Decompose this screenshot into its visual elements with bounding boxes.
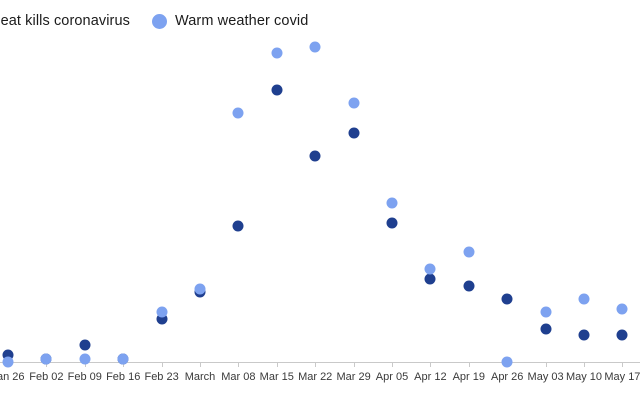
- x-axis-tick-label: Jan 26: [0, 371, 25, 383]
- data-point: [540, 307, 551, 318]
- data-point: [579, 293, 590, 304]
- x-axis-tick-label: Mar 15: [260, 371, 294, 383]
- x-axis-tick-label: May 17: [604, 371, 640, 383]
- x-axis-tick-label: Apr 12: [414, 371, 446, 383]
- x-axis-tick: [430, 362, 431, 367]
- x-axis-tick: [200, 362, 201, 367]
- x-axis-tick-label: Feb 23: [144, 371, 178, 383]
- x-axis-line: [0, 362, 640, 363]
- x-axis-tick: [354, 362, 355, 367]
- x-axis-tick-label: March: [185, 371, 216, 383]
- data-point: [617, 330, 628, 341]
- x-axis-tick: [546, 362, 547, 367]
- x-axis-tick-label: Apr 26: [491, 371, 523, 383]
- x-axis-tick: [238, 362, 239, 367]
- x-axis-tick-label: Mar 29: [336, 371, 370, 383]
- x-axis-tick-label: May 10: [566, 371, 602, 383]
- data-point: [3, 357, 14, 368]
- data-point: [271, 48, 282, 59]
- plot-area: Jan 26Feb 02Feb 09Feb 16Feb 23MarchMar 0…: [0, 0, 640, 400]
- data-point: [540, 323, 551, 334]
- data-point: [617, 303, 628, 314]
- x-axis-tick-label: Feb 09: [68, 371, 102, 383]
- data-point: [195, 283, 206, 294]
- data-point: [425, 264, 436, 275]
- data-point: [79, 340, 90, 351]
- data-point: [579, 330, 590, 341]
- x-axis-tick-label: Feb 02: [29, 371, 63, 383]
- x-axis-tick-label: May 03: [528, 371, 564, 383]
- data-point: [387, 197, 398, 208]
- data-point: [310, 151, 321, 162]
- data-point: [271, 84, 282, 95]
- data-point: [425, 274, 436, 285]
- x-axis-tick: [277, 362, 278, 367]
- data-point: [348, 127, 359, 138]
- data-point: [79, 353, 90, 364]
- data-point: [156, 307, 167, 318]
- data-point: [502, 293, 513, 304]
- data-point: [502, 357, 513, 368]
- x-axis-tick: [622, 362, 623, 367]
- data-point: [118, 353, 129, 364]
- data-point: [348, 98, 359, 109]
- data-point: [387, 217, 398, 228]
- data-point: [310, 41, 321, 52]
- data-point: [41, 353, 52, 364]
- data-point: [233, 220, 244, 231]
- x-axis-tick: [162, 362, 163, 367]
- x-axis-tick-label: Feb 16: [106, 371, 140, 383]
- x-axis-tick: [584, 362, 585, 367]
- x-axis-tick-label: Mar 22: [298, 371, 332, 383]
- x-axis-tick-label: Apr 05: [376, 371, 408, 383]
- x-axis-tick-label: Mar 08: [221, 371, 255, 383]
- x-axis-tick-label: Apr 19: [453, 371, 485, 383]
- x-axis-tick: [469, 362, 470, 367]
- data-point: [463, 280, 474, 291]
- x-axis-tick: [315, 362, 316, 367]
- data-point: [463, 247, 474, 258]
- scatter-chart: Heat kills coronavirus Warm weather covi…: [0, 0, 640, 400]
- x-axis-tick: [392, 362, 393, 367]
- data-point: [233, 108, 244, 119]
